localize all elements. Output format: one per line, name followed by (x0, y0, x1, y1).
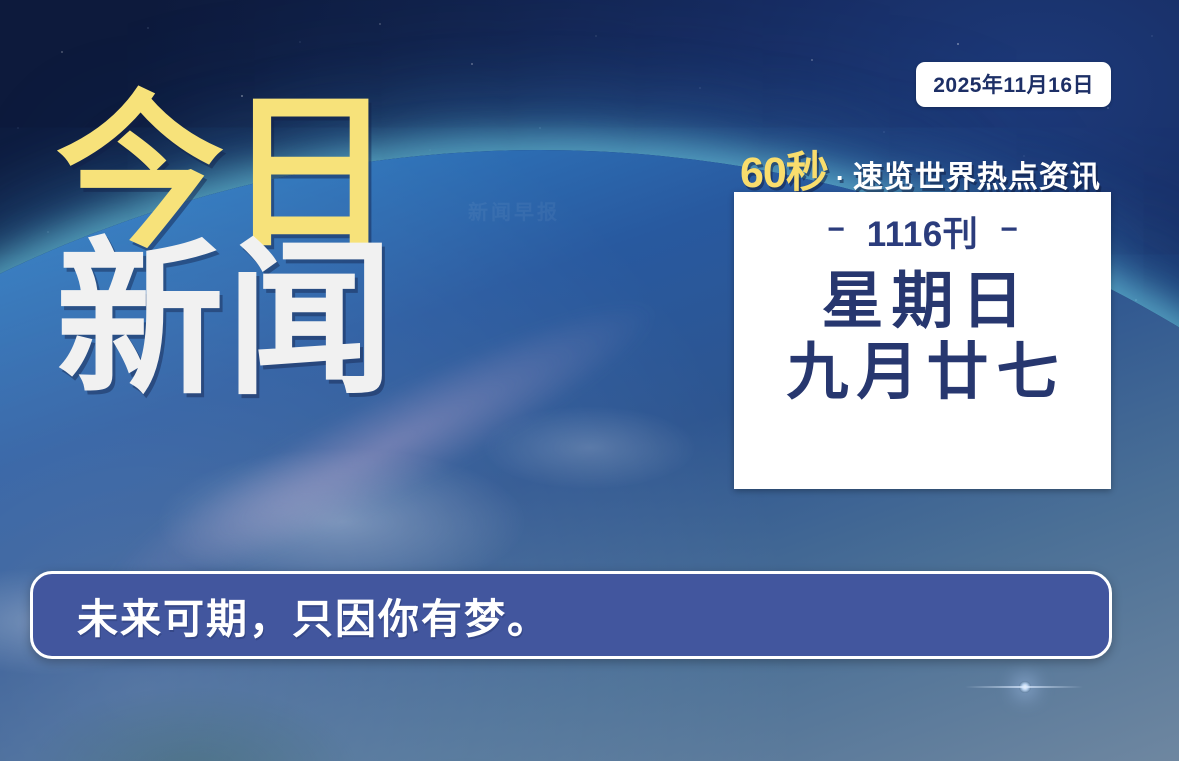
tagline: 60秒 · 速览世界热点资讯 (740, 138, 1101, 200)
issue-dash-right-icon: − (1000, 215, 1018, 245)
tagline-seconds: 60秒 (740, 138, 828, 200)
tagline-description: 速览世界热点资讯 (853, 152, 1101, 196)
news-poster: 新闻早报 2025年11月16日 今日 新闻 60秒 · 速览世界热点资讯 − … (0, 0, 1179, 761)
quote-text: 未来可期，只因你有梦。 (33, 585, 550, 645)
bright-star-flare (1019, 681, 1031, 693)
info-card: − 1116刊 − 星期日 九月廿七 (734, 192, 1111, 489)
issue-dash-left-icon: − (827, 215, 845, 245)
date-badge: 2025年11月16日 (916, 62, 1111, 107)
issue-row: − 1116刊 − (827, 206, 1018, 257)
title-line-news: 新闻 (56, 243, 396, 398)
quote-banner: 未来可期，只因你有梦。 (30, 571, 1112, 659)
background-watermark: 新闻早报 (468, 196, 560, 225)
issue-number: 1116刊 (867, 206, 979, 257)
tagline-separator-icon: · (832, 163, 849, 194)
page-title: 今日 新闻 (56, 96, 396, 397)
lunar-date-label: 九月廿七 (778, 340, 1066, 405)
weekday-label: 星期日 (813, 269, 1031, 334)
